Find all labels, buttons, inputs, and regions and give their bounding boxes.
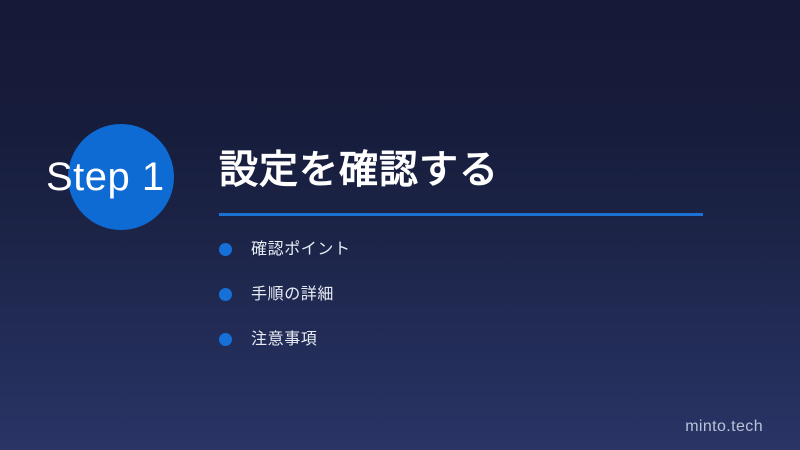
footer-brand-watermark: minto.tech xyxy=(685,418,763,436)
bullet-label: 注意事項 xyxy=(251,327,317,352)
list-item: 手順の詳細 xyxy=(219,282,351,307)
list-item: 注意事項 xyxy=(219,327,351,352)
bullet-dot-icon xyxy=(219,243,232,256)
bullet-label: 確認ポイント xyxy=(251,237,351,262)
bullet-dot-icon xyxy=(219,288,232,301)
bullet-dot-icon xyxy=(219,333,232,346)
presentation-slide: Step 1 設定を確認する 確認ポイント 手順の詳細 注意事項 minto.t… xyxy=(0,0,800,450)
bullet-label: 手順の詳細 xyxy=(251,282,334,307)
bullet-list: 確認ポイント 手順の詳細 注意事項 xyxy=(219,237,351,372)
slide-title: 設定を確認する xyxy=(219,146,499,196)
list-item: 確認ポイント xyxy=(219,237,351,262)
step-number-label: Step 1 xyxy=(46,153,206,201)
title-divider xyxy=(219,213,703,216)
